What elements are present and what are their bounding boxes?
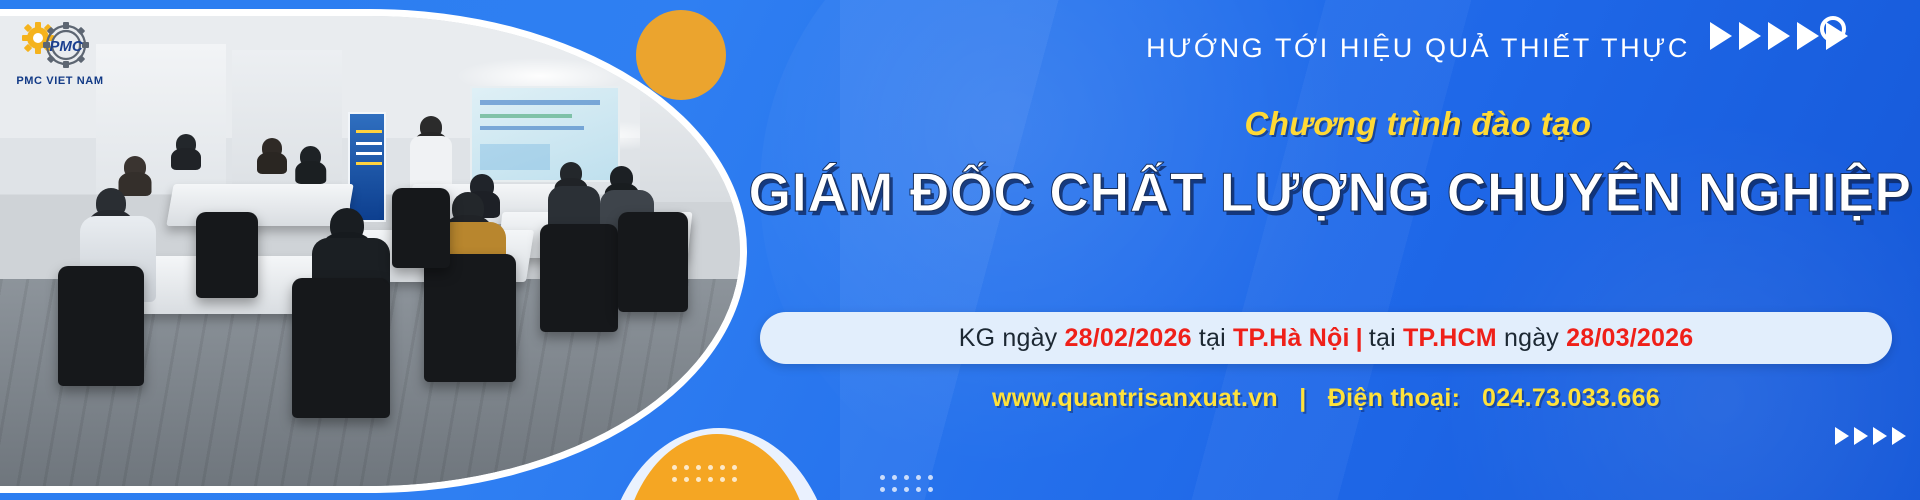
schedule-separator: | xyxy=(1350,324,1369,353)
attendee xyxy=(96,188,126,218)
office-chair xyxy=(424,254,516,382)
promotional-banner: PMC PMC VIET NAM HƯỚNG TỚI HIỆU QUẢ THIẾ… xyxy=(0,0,1920,500)
attendee xyxy=(330,208,364,242)
attendee xyxy=(124,156,146,178)
play-triangle-icon xyxy=(1835,427,1849,445)
office-chair xyxy=(392,188,450,268)
attendee xyxy=(262,138,282,158)
schedule-prefix: KG ngày xyxy=(959,324,1058,353)
arrow-decor-bottom xyxy=(1835,427,1906,445)
attendee xyxy=(610,166,633,189)
schedule-city-1: TP.Hà Nội xyxy=(1233,324,1350,353)
office-chair xyxy=(292,278,390,418)
play-triangle-icon xyxy=(1854,427,1868,445)
office-chair xyxy=(540,224,618,332)
office-chair xyxy=(618,212,688,312)
contact-line: www.quantrisanxuat.vn | Điện thoại: 024.… xyxy=(760,384,1892,413)
dot-grid-icon xyxy=(880,475,933,492)
photo-scene xyxy=(0,16,740,486)
schedule-at-1: tại xyxy=(1199,324,1226,353)
play-triangle-icon xyxy=(1892,427,1906,445)
training-photo xyxy=(0,16,740,486)
attendee xyxy=(300,146,321,167)
schedule-badge: KG ngày 28/02/2026 tại TP.Hà Nội | tại T… xyxy=(760,312,1892,364)
attendee xyxy=(452,192,484,224)
tagline: HƯỚNG TỚI HIỆU QUẢ THIẾT THỰC xyxy=(958,33,1878,64)
projector-screen xyxy=(470,86,620,182)
schedule-at-2: tại xyxy=(1369,324,1396,353)
contact-divider: | xyxy=(1285,384,1320,412)
logo-company-name: PMC VIET NAM xyxy=(12,75,108,87)
page-title: GIÁM ĐỐC CHẤT LƯỢNG CHUYÊN NGHIỆP xyxy=(740,160,1920,224)
play-triangle-icon xyxy=(1873,427,1887,445)
wall-panel-right xyxy=(640,52,740,202)
website-link[interactable]: www.quantrisanxuat.vn xyxy=(992,384,1278,412)
svg-text:PMC: PMC xyxy=(49,38,84,55)
brand-logo: PMC PMC VIET NAM xyxy=(12,20,108,87)
wall-panel-left xyxy=(96,44,226,194)
phone-number[interactable]: 024.73.033.666 xyxy=(1482,384,1660,412)
schedule-date-1: 28/02/2026 xyxy=(1065,324,1192,353)
rollup-banner xyxy=(348,112,386,222)
dot-grid-icon xyxy=(672,465,737,482)
office-chair xyxy=(58,266,144,386)
schedule-date-2: 28/03/2026 xyxy=(1566,324,1693,353)
table xyxy=(166,184,353,226)
office-chair xyxy=(196,212,258,298)
content-panel: HƯỚNG TỚI HIỆU QUẢ THIẾT THỰC Chương trì… xyxy=(740,0,1920,500)
presenter xyxy=(420,116,442,138)
attendee xyxy=(176,134,196,154)
program-subtitle: Chương trình đào tạo xyxy=(958,105,1878,143)
schedule-city-2: TP.HCM xyxy=(1403,324,1497,353)
attendee xyxy=(560,162,582,184)
phone-label: Điện thoại: xyxy=(1328,384,1460,412)
pmc-gear-icon: PMC xyxy=(14,20,106,72)
schedule-mid: ngày xyxy=(1504,324,1559,353)
